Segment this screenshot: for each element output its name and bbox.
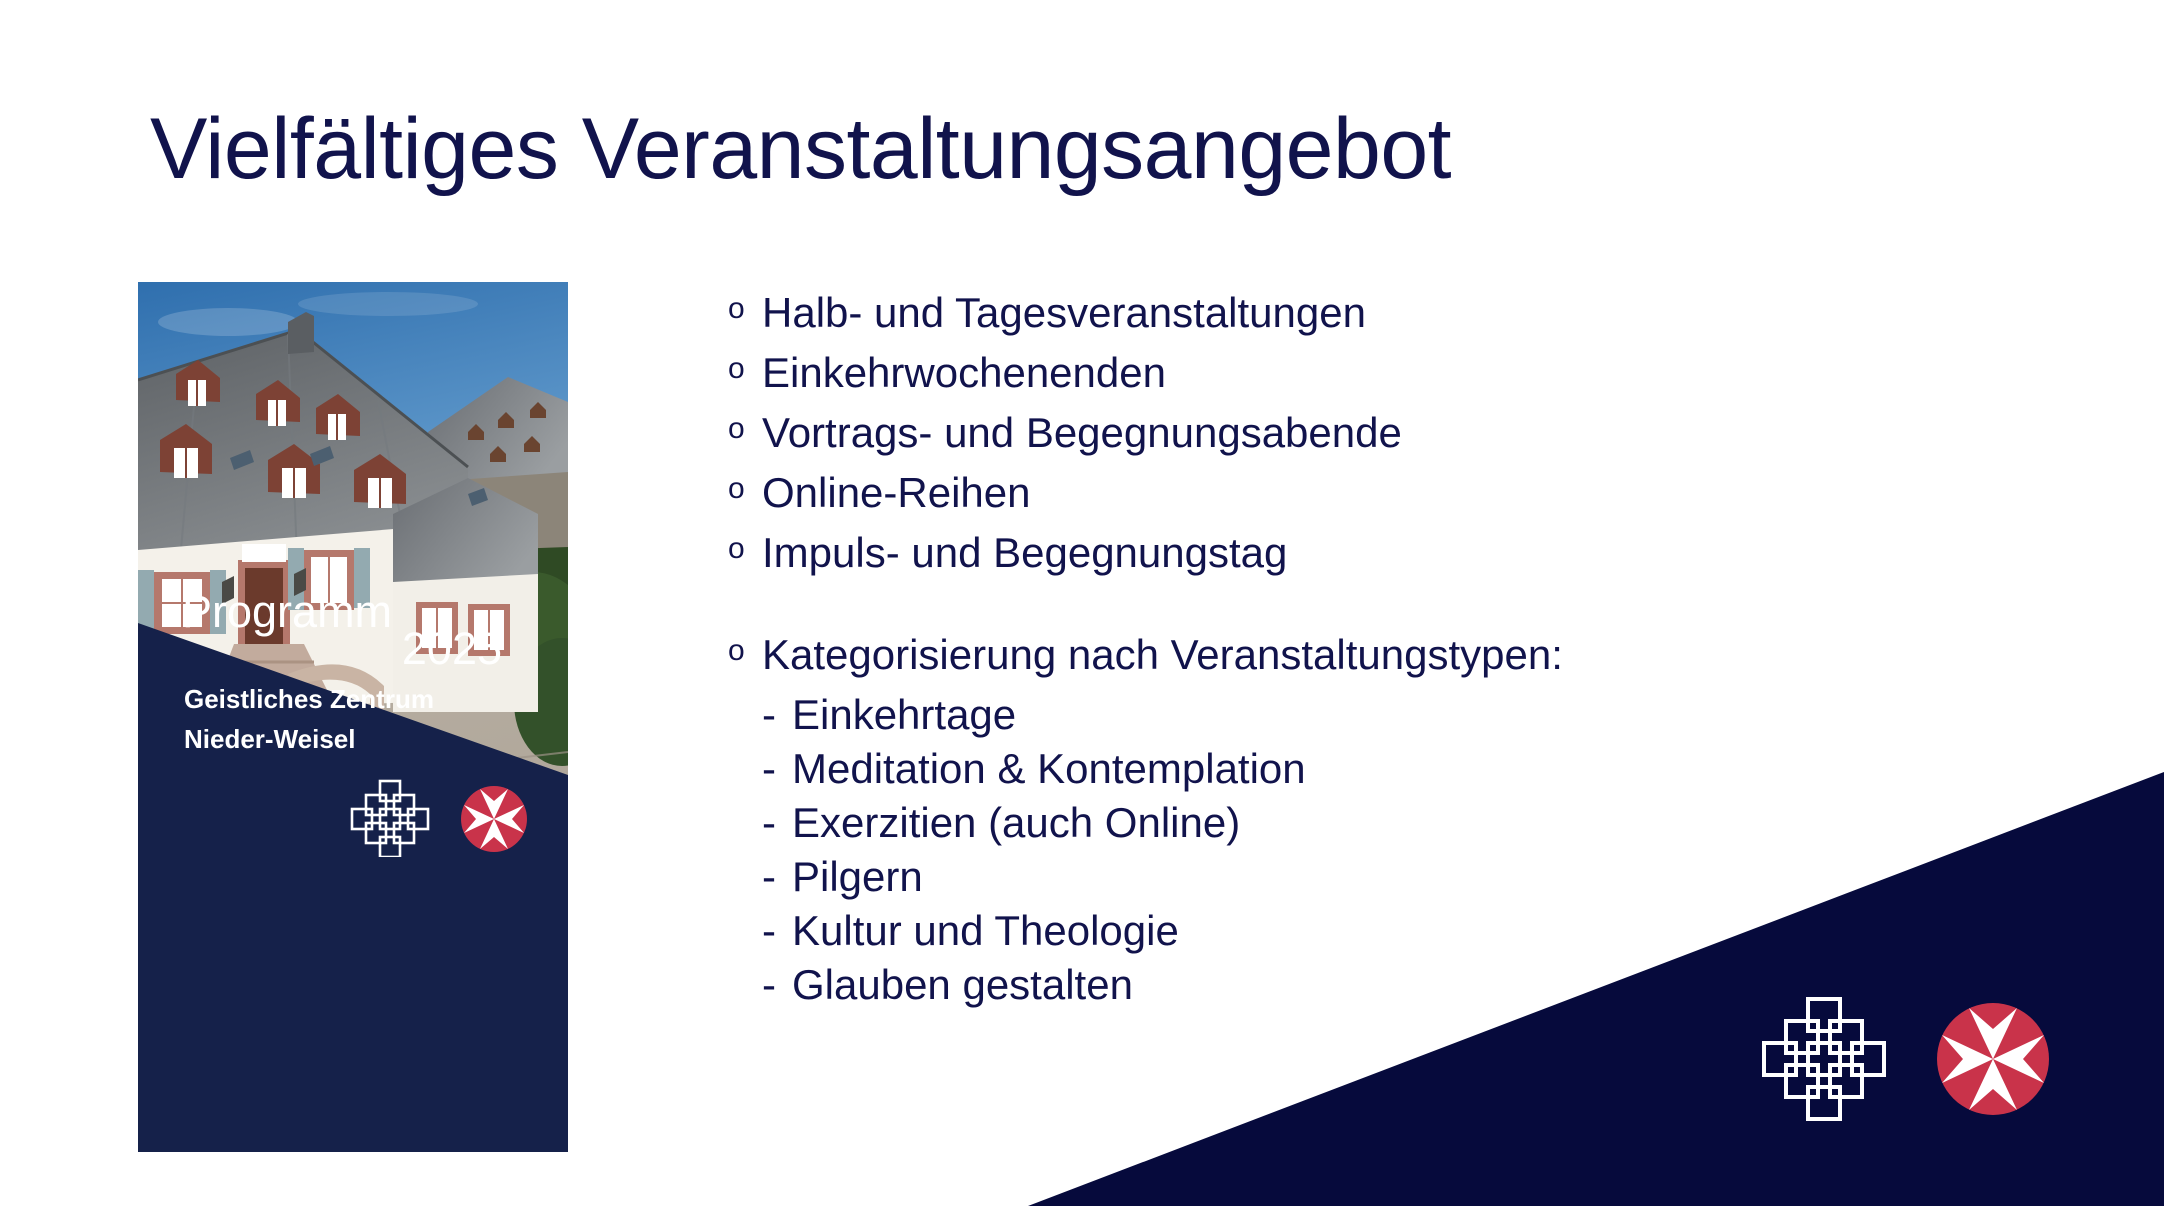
category-heading-label: Kategorisierung nach Veranstaltungstypen… bbox=[762, 634, 1563, 676]
sub-list-item: - Einkehrtage bbox=[728, 694, 1928, 736]
brochure-org-line-2: Nieder-Weisel bbox=[184, 726, 355, 752]
sub-list-item: - Exerzitien (auch Online) bbox=[728, 802, 1928, 844]
list-item: o Halb- und Tagesveranstaltungen bbox=[728, 292, 1928, 334]
slide-canvas: Vielfältiges Veranstaltungsangebot bbox=[0, 0, 2164, 1206]
bullet-marker-icon: o bbox=[728, 412, 762, 447]
list-item-label: Online-Reihen bbox=[762, 472, 1031, 514]
sub-list-item-label: Glauben gestalten bbox=[792, 964, 1133, 1006]
content-bullet-list: o Halb- und Tagesveranstaltungen o Einke… bbox=[728, 292, 1928, 1018]
dash-marker-icon: - bbox=[762, 856, 792, 898]
dash-marker-icon: - bbox=[762, 910, 792, 952]
list-item-label: Vortrags- und Begegnungsabende bbox=[762, 412, 1402, 454]
dash-marker-icon: - bbox=[762, 694, 792, 736]
dash-marker-icon: - bbox=[762, 802, 792, 844]
johanniter-cross-icon bbox=[1764, 999, 1884, 1119]
list-item-label: Halb- und Tagesveranstaltungen bbox=[762, 292, 1366, 334]
bullet-marker-icon: o bbox=[728, 532, 762, 567]
bullet-marker-icon: o bbox=[728, 634, 762, 669]
list-item-label: Einkehrwochenenden bbox=[762, 352, 1166, 394]
brochure-org-line-1: Geistliches Zentrum bbox=[184, 686, 434, 712]
sub-list-item-label: Einkehrtage bbox=[792, 694, 1016, 736]
sub-list-item-label: Kultur und Theologie bbox=[792, 910, 1179, 952]
list-item-category-heading: o Kategorisierung nach Veranstaltungstyp… bbox=[728, 634, 1928, 676]
bullet-marker-icon: o bbox=[728, 472, 762, 507]
brochure-cover-card: Programm 2025 Geistliches Zentrum Nieder… bbox=[138, 282, 568, 1152]
list-item: o Vortrags- und Begegnungsabende bbox=[728, 412, 1928, 454]
sub-list-item-label: Meditation & Kontemplation bbox=[792, 748, 1306, 790]
list-item: o Impuls- und Begegnungstag bbox=[728, 532, 1928, 574]
list-item: o Online-Reihen bbox=[728, 472, 1928, 514]
sub-list-item: - Glauben gestalten bbox=[728, 964, 1928, 1006]
brochure-year-label: 2025 bbox=[182, 626, 502, 671]
sub-list-item: - Kultur und Theologie bbox=[728, 910, 1928, 952]
sub-list-item: - Pilgern bbox=[728, 856, 1928, 898]
maltese-cross-icon bbox=[1937, 1003, 2049, 1115]
list-item-label: Impuls- und Begegnungstag bbox=[762, 532, 1287, 574]
sub-list-item-label: Exerzitien (auch Online) bbox=[792, 802, 1240, 844]
sub-list-item-label: Pilgern bbox=[792, 856, 923, 898]
list-group-spacer bbox=[728, 592, 1928, 634]
dash-marker-icon: - bbox=[762, 964, 792, 1006]
brochure-text-block: Programm 2025 Geistliches Zentrum Nieder… bbox=[138, 282, 568, 1152]
dash-marker-icon: - bbox=[762, 748, 792, 790]
maltese-cross-icon bbox=[461, 786, 527, 852]
bullet-marker-icon: o bbox=[728, 352, 762, 387]
brochure-logo-group bbox=[350, 777, 530, 857]
bullet-marker-icon: o bbox=[728, 292, 762, 327]
page-title: Vielfältiges Veranstaltungsangebot bbox=[150, 104, 2050, 194]
list-item: o Einkehrwochenenden bbox=[728, 352, 1928, 394]
johanniter-cross-icon bbox=[352, 781, 428, 857]
corner-logo-group bbox=[1760, 995, 2060, 1125]
sub-list-item: - Meditation & Kontemplation bbox=[728, 748, 1928, 790]
